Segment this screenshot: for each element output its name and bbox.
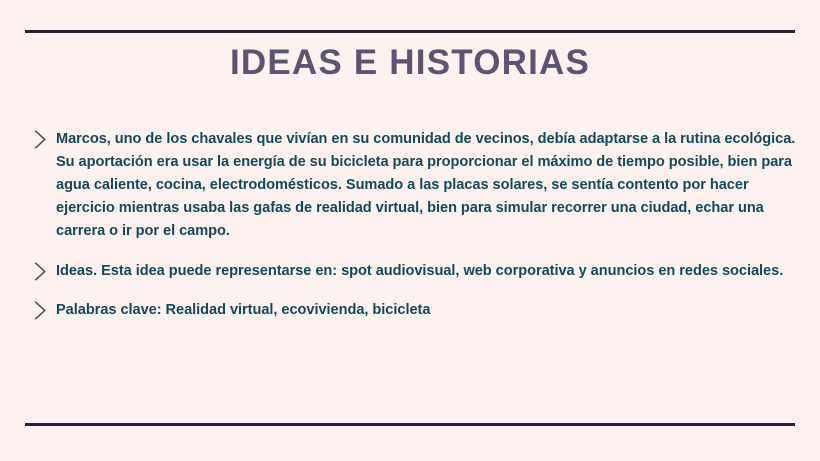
chevron-right-icon [30,300,50,321]
list-item-text: Marcos, uno de los chavales que vivían e… [56,128,798,243]
bottom-divider [25,423,795,426]
chevron-right-icon [30,129,50,150]
list-item-text: Ideas. Esta idea puede representarse en:… [56,260,798,283]
list-item-text: Palabras clave: Realidad virtual, ecoviv… [56,299,798,322]
list-item: Ideas. Esta idea puede representarse en:… [30,260,798,283]
chevron-right-icon [30,261,50,282]
top-divider [25,30,795,33]
page-title: IDEAS E HISTORIAS [0,44,820,83]
slide-canvas: IDEAS E HISTORIAS Marcos, uno de los cha… [0,0,820,461]
bullet-list: Marcos, uno de los chavales que vivían e… [30,128,798,322]
list-item: Marcos, uno de los chavales que vivían e… [30,128,798,243]
list-item: Palabras clave: Realidad virtual, ecoviv… [30,299,798,322]
